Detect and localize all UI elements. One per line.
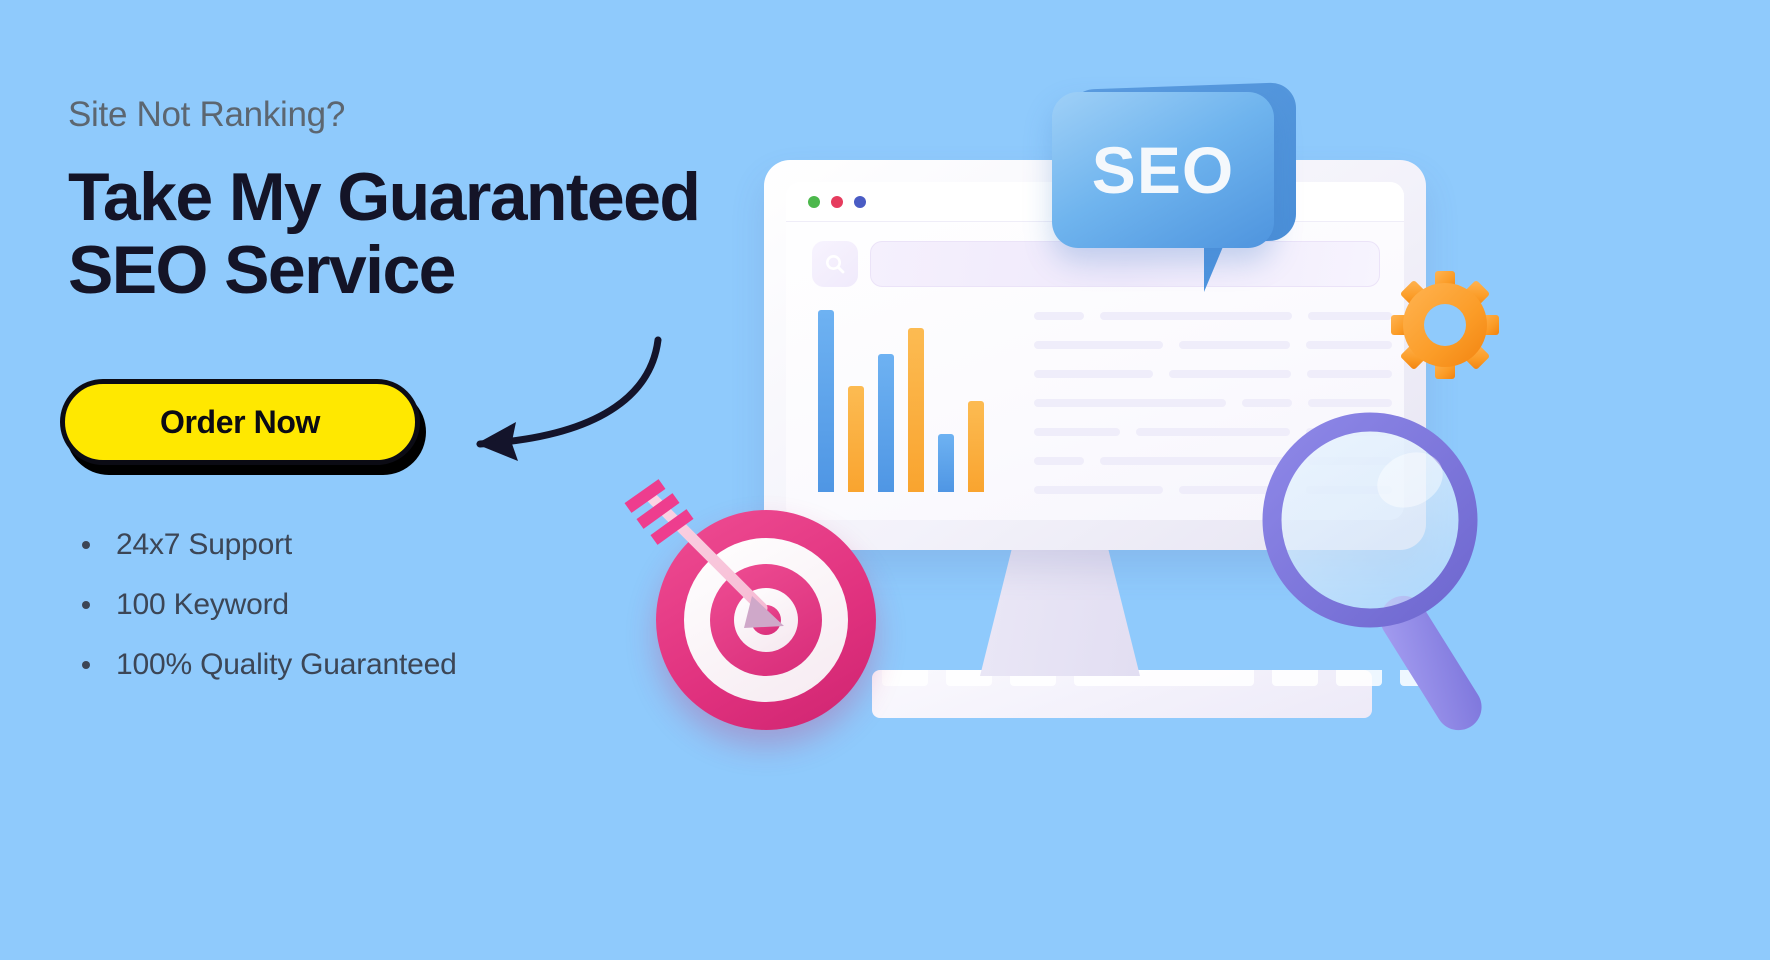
bullet-dot-icon [82,661,90,669]
monitor-stand [980,548,1140,676]
analytics-bar-chart [818,310,1008,492]
chart-bar [848,386,864,492]
chart-bar [938,434,954,492]
bubble-front-layer: SEO [1052,92,1274,248]
list-item: 100% Quality Guaranteed [82,648,457,682]
feature-label: 24x7 Support [116,528,292,562]
bullet-dot-icon [82,541,90,549]
chart-bar [968,401,984,492]
cta-container: Order Now [60,379,426,475]
chart-bar [908,328,924,492]
feature-list: 24x7 Support 100 Keyword 100% Quality Gu… [82,528,457,708]
blue-dot-icon [854,196,866,208]
green-dot-icon [808,196,820,208]
search-icon[interactable] [812,241,858,287]
seo-promo-banner: Site Not Ranking? Take My Guaranteed SEO… [0,0,1770,960]
order-now-button[interactable]: Order Now [60,379,420,465]
list-item: 100 Keyword [82,588,457,622]
bullet-dot-icon [82,601,90,609]
chart-bar [878,354,894,492]
target-graphic [656,510,876,730]
gear-icon [1390,270,1500,380]
magnifier-icon [1260,410,1525,740]
red-dot-icon [831,196,843,208]
seo-illustration: SEO [600,0,1770,960]
browser-dots [808,196,866,208]
list-item: 24x7 Support [82,528,457,562]
feature-label: 100% Quality Guaranteed [116,648,457,682]
feature-label: 100 Keyword [116,588,289,622]
seo-speech-bubble: SEO [1052,92,1292,252]
order-now-label: Order Now [160,404,320,441]
seo-bubble-label: SEO [1092,132,1234,208]
dart-arrow-icon [584,440,844,680]
